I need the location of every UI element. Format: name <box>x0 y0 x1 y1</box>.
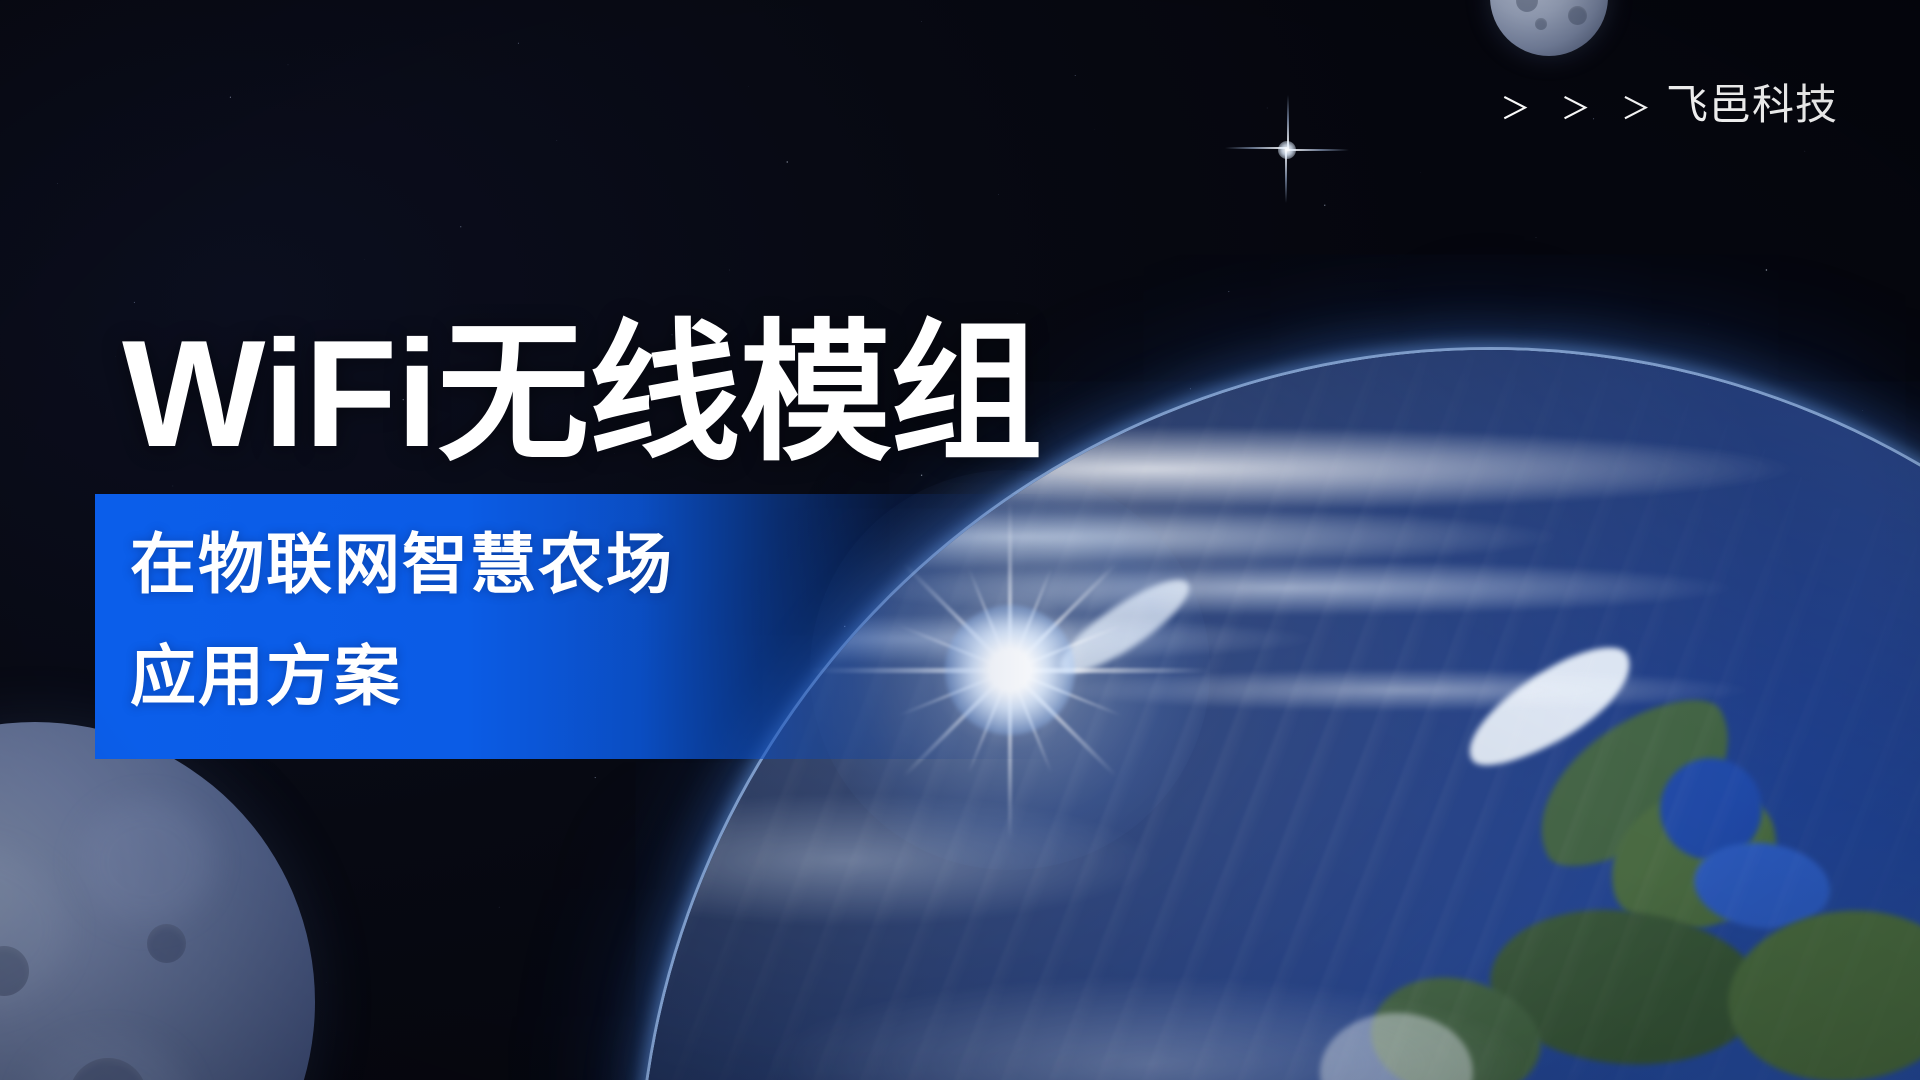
star-ray <box>1287 149 1349 151</box>
cloud-patch <box>1320 1013 1473 1080</box>
moon-crater <box>1516 0 1538 12</box>
landmass-central-europe <box>1485 902 1767 1074</box>
moon-top-right-icon <box>1490 0 1608 56</box>
subtitle: 在物联网智慧农场 应用方案 <box>130 508 674 732</box>
cloud-band <box>1049 566 1200 687</box>
brand-logo[interactable]: ＞ ＞ ＞ 飞邑科技 <box>1500 84 1838 126</box>
sea-baltic <box>1647 745 1776 874</box>
landmass-finland <box>1597 776 1792 944</box>
moon-crater <box>69 1058 147 1080</box>
sea-gulf-of-bothnia <box>1690 836 1834 935</box>
landmass-scandinavia <box>1509 679 1760 888</box>
chevron-right-icon: ＞ ＞ ＞ <box>1500 95 1662 125</box>
landmass-british-isles <box>1359 960 1553 1080</box>
moon-maria <box>80 800 214 923</box>
moon-crater <box>1568 6 1587 25</box>
moon-bottom-left-icon <box>0 722 315 1080</box>
moon-maria <box>0 845 69 1013</box>
hero-banner: ＞ ＞ ＞ 飞邑科技 WiFi无线模组 在物联网智慧农场 应用方案 <box>0 0 1920 1080</box>
moon-crater <box>147 924 186 963</box>
landmass-eastern-europe <box>1720 899 1920 1080</box>
subtitle-line-1: 在物联网智慧农场 <box>130 508 674 620</box>
moon-crater <box>1535 18 1547 30</box>
snowcap-scandinavian-mountains <box>1452 631 1648 783</box>
moon-crater <box>0 946 29 996</box>
subtitle-line-2: 应用方案 <box>130 620 674 732</box>
moon-maria <box>24 1036 192 1080</box>
star-ray <box>1225 147 1287 149</box>
brand-name: 飞邑科技 <box>1666 84 1838 126</box>
page-title: WiFi无线模组 <box>122 318 1041 470</box>
star-ray <box>1287 95 1289 149</box>
star-core <box>1278 141 1296 159</box>
star-ray <box>1285 149 1287 203</box>
